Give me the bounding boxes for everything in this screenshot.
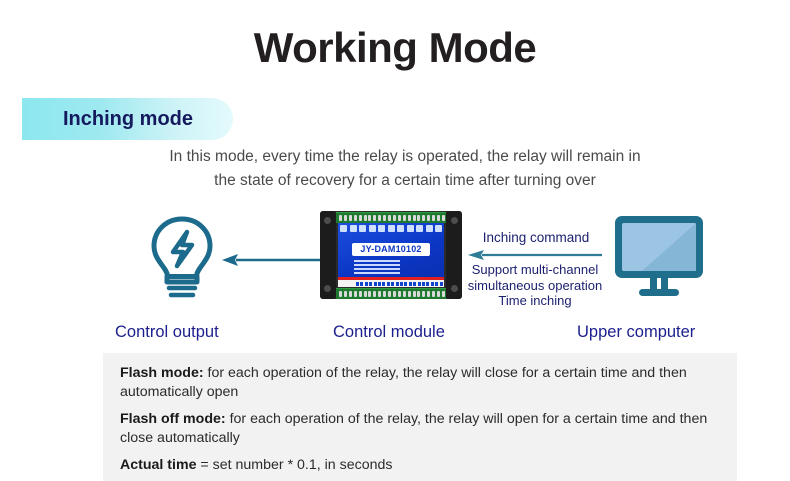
terminal-pin (408, 291, 411, 297)
diagram-role-labels: Control output Control module Upper comp… (0, 323, 790, 347)
inching-command-details: Support multi-channel simultaneous opera… (461, 262, 609, 309)
terminal-pin (417, 215, 420, 221)
module-led (413, 282, 416, 286)
module-led (365, 282, 368, 286)
module-led (431, 282, 434, 286)
terminal-pin (368, 215, 371, 221)
terminal-pin (417, 291, 420, 297)
terminal-pin (383, 215, 386, 221)
module-led (356, 282, 359, 286)
module-led (440, 282, 443, 286)
terminal-pin (442, 215, 445, 221)
mode-details-panel: Flash mode: for each operation of the re… (103, 353, 737, 481)
module-screw-hole (451, 217, 458, 224)
terminal-pin (437, 291, 440, 297)
module-port (416, 225, 423, 232)
module-screw-hole (451, 285, 458, 292)
terminal-pin (339, 215, 342, 221)
terminal-pin (422, 215, 425, 221)
info-term-actual-time: Actual time (120, 457, 196, 473)
terminal-pin (398, 215, 401, 221)
module-port (369, 225, 376, 232)
terminal-pin (393, 215, 396, 221)
inching-detail-2: simultaneous operation (461, 278, 609, 294)
role-label-control-module: Control module (333, 323, 445, 342)
terminal-pin (427, 215, 430, 221)
module-led (400, 282, 403, 286)
module-led (404, 282, 407, 286)
terminal-pin (403, 291, 406, 297)
module-led (435, 282, 438, 286)
module-led-strip (338, 280, 444, 287)
module-led (418, 282, 421, 286)
terminal-pin (388, 215, 391, 221)
terminal-pin (422, 291, 425, 297)
terminal-pin (349, 215, 352, 221)
terminal-pin (388, 291, 391, 297)
module-port (378, 225, 385, 232)
module-led (391, 282, 394, 286)
module-port (350, 225, 357, 232)
terminal-pin (413, 291, 416, 297)
terminal-pin (413, 215, 416, 221)
terminal-pin (393, 291, 396, 297)
module-led (369, 282, 372, 286)
module-led (360, 282, 363, 286)
module-screw-hole (324, 217, 331, 224)
page-title: Working Mode (0, 26, 790, 70)
role-label-upper-computer: Upper computer (577, 323, 695, 342)
terminal-pin (344, 215, 347, 221)
monitor-icon (612, 214, 706, 298)
terminal-pin (378, 291, 381, 297)
terminal-pin (339, 291, 342, 297)
terminal-pin (442, 291, 445, 297)
module-led (378, 282, 381, 286)
module-terminal-block-bottom (336, 288, 446, 299)
terminal-pin (359, 215, 362, 221)
mode-description: In this mode, every time the relay is op… (95, 145, 715, 193)
module-led (426, 282, 429, 286)
terminal-pin (383, 291, 386, 297)
terminal-pin (373, 291, 376, 297)
terminal-pin (403, 215, 406, 221)
module-spec-lines (354, 260, 428, 276)
module-led (422, 282, 425, 286)
module-port (397, 225, 404, 232)
module-terminal-block-top (336, 212, 446, 223)
terminal-pin (437, 215, 440, 221)
module-model-label: JY-DAM10102 (352, 243, 430, 256)
terminal-pin (427, 291, 430, 297)
module-port (359, 225, 366, 232)
info-row-actual-time: Actual time = set number * 0.1, in secon… (120, 456, 723, 475)
lightbulb-icon (142, 212, 222, 302)
terminal-pin (378, 215, 381, 221)
module-port (407, 225, 414, 232)
mode-badge: Inching mode (22, 98, 233, 140)
module-led (387, 282, 390, 286)
inching-command-label: Inching command (466, 230, 606, 245)
module-screw-hole (324, 285, 331, 292)
inching-command-arrow-icon (468, 248, 602, 262)
mode-badge-label: Inching mode (63, 98, 193, 140)
terminal-pin (364, 291, 367, 297)
role-label-control-output: Control output (115, 323, 219, 342)
info-term-flash-off-mode: Flash off mode: (120, 411, 226, 427)
control-output-arrow-icon (222, 252, 320, 268)
terminal-pin (344, 291, 347, 297)
relay-module-icon: JY-DAM10102 (320, 211, 462, 299)
module-board-face: JY-DAM10102 (338, 223, 444, 287)
terminal-pin (359, 291, 362, 297)
terminal-pin (354, 291, 357, 297)
inching-detail-1: Support multi-channel (461, 262, 609, 278)
module-port (426, 225, 433, 232)
module-led (396, 282, 399, 286)
terminal-pin (432, 291, 435, 297)
terminal-pin (373, 215, 376, 221)
terminal-pin (349, 291, 352, 297)
module-led (374, 282, 377, 286)
info-term-flash-mode: Flash mode: (120, 365, 204, 381)
module-port (435, 225, 442, 232)
mode-description-line-2: the state of recovery for a certain time… (95, 169, 715, 193)
module-port-row (340, 225, 442, 237)
info-text-flash-mode: for each operation of the relay, the rel… (120, 365, 687, 400)
module-led (409, 282, 412, 286)
module-port (340, 225, 347, 232)
terminal-pin (408, 215, 411, 221)
inching-detail-3: Time inching (461, 293, 609, 309)
terminal-pin (354, 215, 357, 221)
info-row-flash-off-mode: Flash off mode: for each operation of th… (120, 410, 723, 447)
terminal-pin (432, 215, 435, 221)
info-row-flash-mode: Flash mode: for each operation of the re… (120, 364, 723, 401)
terminal-pin (368, 291, 371, 297)
mode-description-line-1: In this mode, every time the relay is op… (95, 145, 715, 169)
info-text-actual-time: = set number * 0.1, in seconds (196, 457, 392, 473)
terminal-pin (398, 291, 401, 297)
module-led (382, 282, 385, 286)
terminal-pin (364, 215, 367, 221)
module-port (388, 225, 395, 232)
